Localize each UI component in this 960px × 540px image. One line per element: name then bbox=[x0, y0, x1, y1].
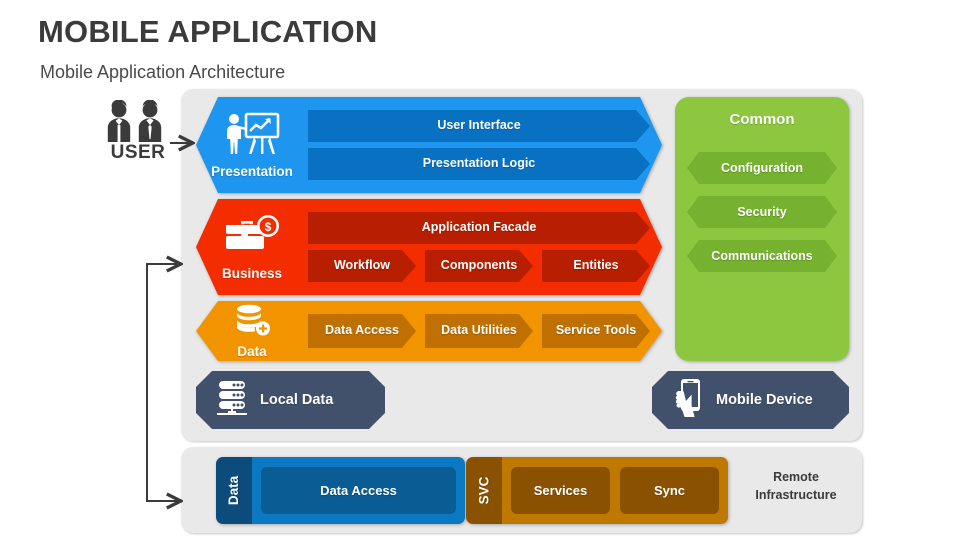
layer-presentation-content: User Interface Presentation Logic bbox=[308, 97, 662, 193]
server-rack-icon bbox=[212, 378, 252, 423]
svg-text:$: $ bbox=[265, 220, 272, 234]
chip-service-tools[interactable]: Service Tools bbox=[542, 314, 650, 348]
remote-group-data-body: Data Access bbox=[252, 457, 465, 524]
chip-presentation-logic[interactable]: Presentation Logic bbox=[308, 148, 650, 180]
user-actor: USER bbox=[92, 100, 184, 172]
chip-entities[interactable]: Entities bbox=[542, 250, 650, 282]
remote-infrastructure-label: Remote Infrastructure bbox=[741, 468, 851, 504]
layer-data[interactable]: Data Data Access Data Utilities Service … bbox=[196, 301, 662, 361]
slide-canvas: MOBILE APPLICATION Mobile Application Ar… bbox=[0, 0, 960, 540]
remote-group-svc-body: Services Sync bbox=[502, 457, 728, 524]
chip-data-utilities[interactable]: Data Utilities bbox=[425, 314, 533, 348]
remote-label-line2: Infrastructure bbox=[741, 486, 851, 504]
box-mobile-device-label: Mobile Device bbox=[716, 392, 813, 408]
chip-components[interactable]: Components bbox=[425, 250, 533, 282]
layer-presentation-head: Presentation bbox=[196, 97, 308, 193]
briefcase-dollar-icon: $ bbox=[224, 214, 280, 263]
layer-data-label: Data bbox=[237, 344, 266, 359]
chip-application-facade[interactable]: Application Facade bbox=[308, 212, 650, 244]
chip-data-access[interactable]: Data Access bbox=[308, 314, 416, 348]
box-local-data[interactable]: Local Data bbox=[196, 371, 385, 429]
chip-security[interactable]: Security bbox=[687, 196, 837, 228]
remote-group-data[interactable]: Data Data Access bbox=[216, 457, 465, 524]
remote-tab-svc[interactable]: SVC bbox=[466, 457, 502, 524]
remote-chip-services[interactable]: Services bbox=[511, 467, 610, 514]
remote-tab-data[interactable]: Data bbox=[216, 457, 252, 524]
layer-data-head: Data bbox=[196, 301, 308, 361]
box-local-data-label: Local Data bbox=[260, 392, 333, 408]
hand-phone-icon bbox=[668, 377, 708, 424]
layer-row: Data Access Data Utilities Service Tools bbox=[308, 314, 650, 348]
database-plus-icon bbox=[232, 304, 272, 341]
layer-business-content: Application Facade Workflow Components E… bbox=[308, 199, 662, 295]
presenter-board-icon bbox=[224, 112, 280, 161]
remote-group-svc[interactable]: SVC Services Sync bbox=[466, 457, 728, 524]
remote-tab-data-label: Data bbox=[226, 476, 241, 505]
layer-row: Presentation Logic bbox=[308, 148, 650, 180]
bracket-connector bbox=[147, 264, 178, 501]
layer-business-head: $ Business bbox=[196, 199, 308, 295]
page-subtitle: Mobile Application Architecture bbox=[40, 62, 285, 83]
layer-business-label: Business bbox=[222, 266, 282, 281]
layer-data-content: Data Access Data Utilities Service Tools bbox=[308, 301, 662, 361]
chip-configuration[interactable]: Configuration bbox=[687, 152, 837, 184]
layer-business[interactable]: $ Business Application Facade Workflow C… bbox=[196, 199, 662, 295]
user-label: USER bbox=[92, 142, 184, 164]
layer-row: Workflow Components Entities bbox=[308, 250, 650, 282]
page-title: MOBILE APPLICATION bbox=[38, 14, 377, 50]
remote-tab-svc-label: SVC bbox=[476, 477, 491, 505]
two-users-icon bbox=[92, 100, 184, 142]
chip-workflow[interactable]: Workflow bbox=[308, 250, 416, 282]
box-mobile-device[interactable]: Mobile Device bbox=[652, 371, 849, 429]
remote-chip-sync[interactable]: Sync bbox=[620, 467, 719, 514]
chip-user-interface[interactable]: User Interface bbox=[308, 110, 650, 142]
common-title: Common bbox=[730, 111, 795, 128]
remote-label-line1: Remote bbox=[741, 468, 851, 486]
layer-presentation-label: Presentation bbox=[211, 164, 293, 179]
layer-row: User Interface bbox=[308, 110, 650, 142]
common-panel[interactable]: Common Configuration Security Communicat… bbox=[675, 97, 849, 361]
layer-presentation[interactable]: Presentation User Interface Presentation… bbox=[196, 97, 662, 193]
chip-communications[interactable]: Communications bbox=[687, 240, 837, 272]
remote-chip-data-access[interactable]: Data Access bbox=[261, 467, 456, 514]
layer-row: Application Facade bbox=[308, 212, 650, 244]
